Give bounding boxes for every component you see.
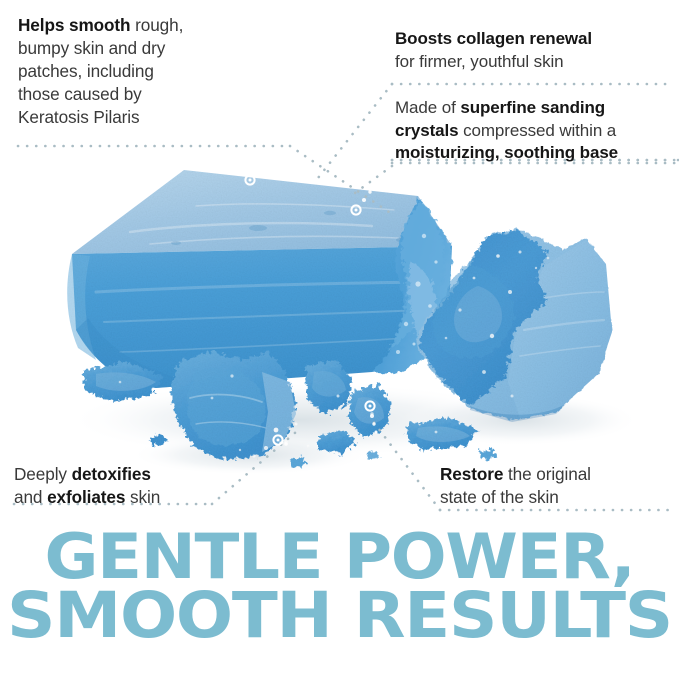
headline: GENTLE POWER, SMOOTH RESULTS <box>0 528 679 645</box>
callout-boosts-collagen: Boosts collagen renewalfor firmer, youth… <box>395 28 670 73</box>
callout-line: Helps smooth rough, <box>18 14 318 37</box>
callout-emphasis: exfoliates <box>47 487 125 507</box>
callout-text: for firmer, youthful skin <box>395 52 564 71</box>
callout-text: and <box>14 487 47 507</box>
callout-emphasis: superfine sanding <box>460 98 605 117</box>
callout-emphasis: Restore <box>440 464 503 484</box>
callout-text: state of the skin <box>440 487 559 507</box>
callout-line: patches, including <box>18 60 318 83</box>
callout-line: bumpy skin and dry <box>18 37 318 60</box>
product-infographic: Helps smooth rough,bumpy skin and drypat… <box>0 0 679 679</box>
callout-emphasis: detoxifies <box>72 464 151 484</box>
callout-text: Deeply <box>14 464 72 484</box>
callout-sanding-crystals: Made of superfine sandingcrystals compre… <box>395 97 679 165</box>
callout-text: Keratosis Pilaris <box>18 107 140 127</box>
callout-text: the original <box>503 464 591 484</box>
callout-emphasis: crystals <box>395 121 458 140</box>
callout-line: crystals compressed within a <box>395 120 679 143</box>
callout-restore-skin: Restore the originalstate of the skin <box>440 463 679 509</box>
callout-line: for firmer, youthful skin <box>395 51 670 74</box>
headline-line-2: SMOOTH RESULTS <box>0 586 679 645</box>
callout-emphasis: Boosts collagen renewal <box>395 29 592 48</box>
callout-text: compressed within a <box>458 121 616 140</box>
callout-text: bumpy skin and dry <box>18 38 165 58</box>
callout-line: and exfoliates skin <box>14 486 304 509</box>
callout-text: skin <box>125 487 160 507</box>
callout-text: Made of <box>395 98 460 117</box>
callout-text: those caused by <box>18 84 142 104</box>
callout-deeply-detoxifies: Deeply detoxifiesand exfoliates skin <box>14 463 304 509</box>
callout-line: those caused by <box>18 83 318 106</box>
callout-line: moisturizing, soothing base <box>395 142 679 165</box>
callout-line: Boosts collagen renewal <box>395 28 670 51</box>
callout-line: Keratosis Pilaris <box>18 106 318 129</box>
callout-line: Made of superfine sanding <box>395 97 679 120</box>
callout-line: state of the skin <box>440 486 679 509</box>
callout-line: Deeply detoxifies <box>14 463 304 486</box>
callout-emphasis: Helps smooth <box>18 15 130 35</box>
callout-emphasis: moisturizing, soothing base <box>395 143 618 162</box>
callout-helps-smooth: Helps smooth rough,bumpy skin and drypat… <box>18 14 318 128</box>
callout-line: Restore the original <box>440 463 679 486</box>
callout-text: patches, including <box>18 61 154 81</box>
callout-text: rough, <box>130 15 183 35</box>
